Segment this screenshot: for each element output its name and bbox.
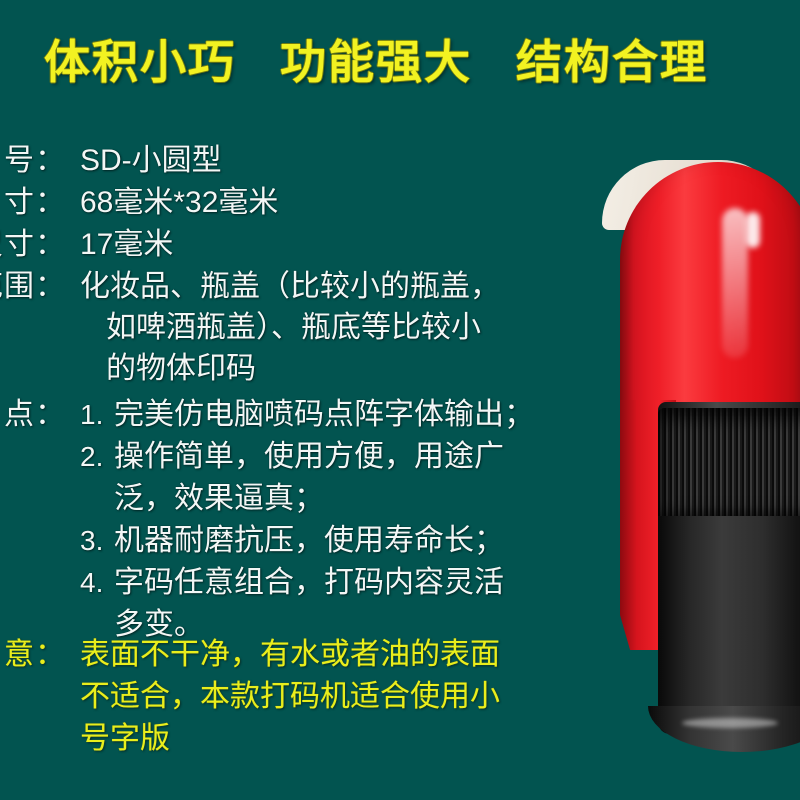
notice-text: 表面不干净，有水或者油的表面 不适合，本款打码机适合使用小 号字版: [66, 634, 602, 760]
feature-item-1: 1. 完美仿电脑喷码点阵字体输出；: [80, 394, 602, 436]
product-base-highlight: [682, 718, 778, 728]
spec-row-usage-range: 范围： 化妆品、瓶盖（比较小的瓶盖， 如啤酒瓶盖）、瓶底等比较小 的物体印码: [0, 266, 602, 389]
title-segment-3: 结构合理: [516, 26, 708, 92]
product-base-flare: [648, 706, 800, 752]
spec-value-model: SD-小圆型: [66, 140, 602, 181]
product-black-body: [658, 516, 800, 734]
feature-4-line-1: 字码任意组合，打码内容灵活: [114, 562, 602, 604]
product-photo: [596, 150, 800, 750]
spec-label-size: 寸：: [0, 182, 66, 223]
spec-size-line-1: 68毫米*32毫米: [80, 182, 602, 223]
feature-number-3: 3.: [80, 520, 114, 562]
notice-label: 意：: [0, 634, 66, 676]
spec-print-size-line-1: 17毫米: [80, 224, 602, 265]
feature-text-2: 操作简单，使用方便，用途广 泛，效果逼真；: [114, 436, 602, 520]
feature-item-3: 3. 机器耐磨抗压，使用寿命长；: [80, 520, 602, 562]
feature-2-line-1: 操作简单，使用方便，用途广: [114, 436, 602, 478]
spec-row-print-size: 尺寸： 17毫米: [0, 224, 602, 265]
title-segment-1: 体积小巧: [44, 26, 236, 92]
feature-number-2: 2.: [80, 436, 114, 520]
feature-3-line-1: 机器耐磨抗压，使用寿命长；: [114, 520, 602, 562]
product-info-graphic: 体积小巧 功能强大 结构合理 号： SD-小圆型 寸： 68毫米*32毫米 尺寸…: [0, 0, 800, 800]
spec-label-print-size: 尺寸：: [0, 224, 66, 265]
features-section: 点： 1. 完美仿电脑喷码点阵字体输出； 2. 操作简单，使用方便，用途广 泛，…: [0, 394, 602, 646]
product-cap-highlight: [722, 208, 748, 358]
notice-line-1: 表面不干净，有水或者油的表面: [80, 634, 602, 676]
spec-usage-line-1: 化妆品、瓶盖（比较小的瓶盖，: [80, 266, 602, 307]
feature-number-1: 1.: [80, 394, 114, 436]
title-segment-2: 功能强大: [280, 26, 472, 92]
feature-1-line-1: 完美仿电脑喷码点阵字体输出；: [114, 394, 602, 436]
features-label: 点：: [0, 394, 66, 436]
product-knurled-band: [658, 408, 800, 520]
spec-model-line-1: SD-小圆型: [80, 140, 602, 181]
features-list: 1. 完美仿电脑喷码点阵字体输出； 2. 操作简单，使用方便，用途广 泛，效果逼…: [66, 394, 602, 646]
spec-usage-line-3: 的物体印码: [80, 348, 602, 389]
notice-section: 意： 表面不干净，有水或者油的表面 不适合，本款打码机适合使用小 号字版: [0, 634, 602, 760]
product-cap-highlight-spot: [746, 212, 760, 248]
feature-item-2: 2. 操作简单，使用方便，用途广 泛，效果逼真；: [80, 436, 602, 520]
spec-row-model: 号： SD-小圆型: [0, 140, 602, 181]
spec-list: 号： SD-小圆型 寸： 68毫米*32毫米 尺寸： 17毫米 范围： 化妆品、…: [0, 140, 602, 390]
spec-label-usage-range: 范围：: [0, 266, 66, 307]
page-title: 体积小巧 功能强大 结构合理: [44, 28, 784, 90]
spec-row-size: 寸： 68毫米*32毫米: [0, 182, 602, 223]
spec-value-usage-range: 化妆品、瓶盖（比较小的瓶盖， 如啤酒瓶盖）、瓶底等比较小 的物体印码: [66, 266, 602, 389]
feature-text-3: 机器耐磨抗压，使用寿命长；: [114, 520, 602, 562]
spec-label-model: 号：: [0, 140, 66, 181]
feature-text-1: 完美仿电脑喷码点阵字体输出；: [114, 394, 602, 436]
spec-value-print-size: 17毫米: [66, 224, 602, 265]
notice-line-2: 不适合，本款打码机适合使用小: [80, 676, 602, 718]
spec-usage-line-2: 如啤酒瓶盖）、瓶底等比较小: [80, 307, 602, 348]
feature-2-line-2: 泛，效果逼真；: [114, 478, 602, 520]
spec-value-size: 68毫米*32毫米: [66, 182, 602, 223]
notice-line-3: 号字版: [80, 718, 602, 760]
